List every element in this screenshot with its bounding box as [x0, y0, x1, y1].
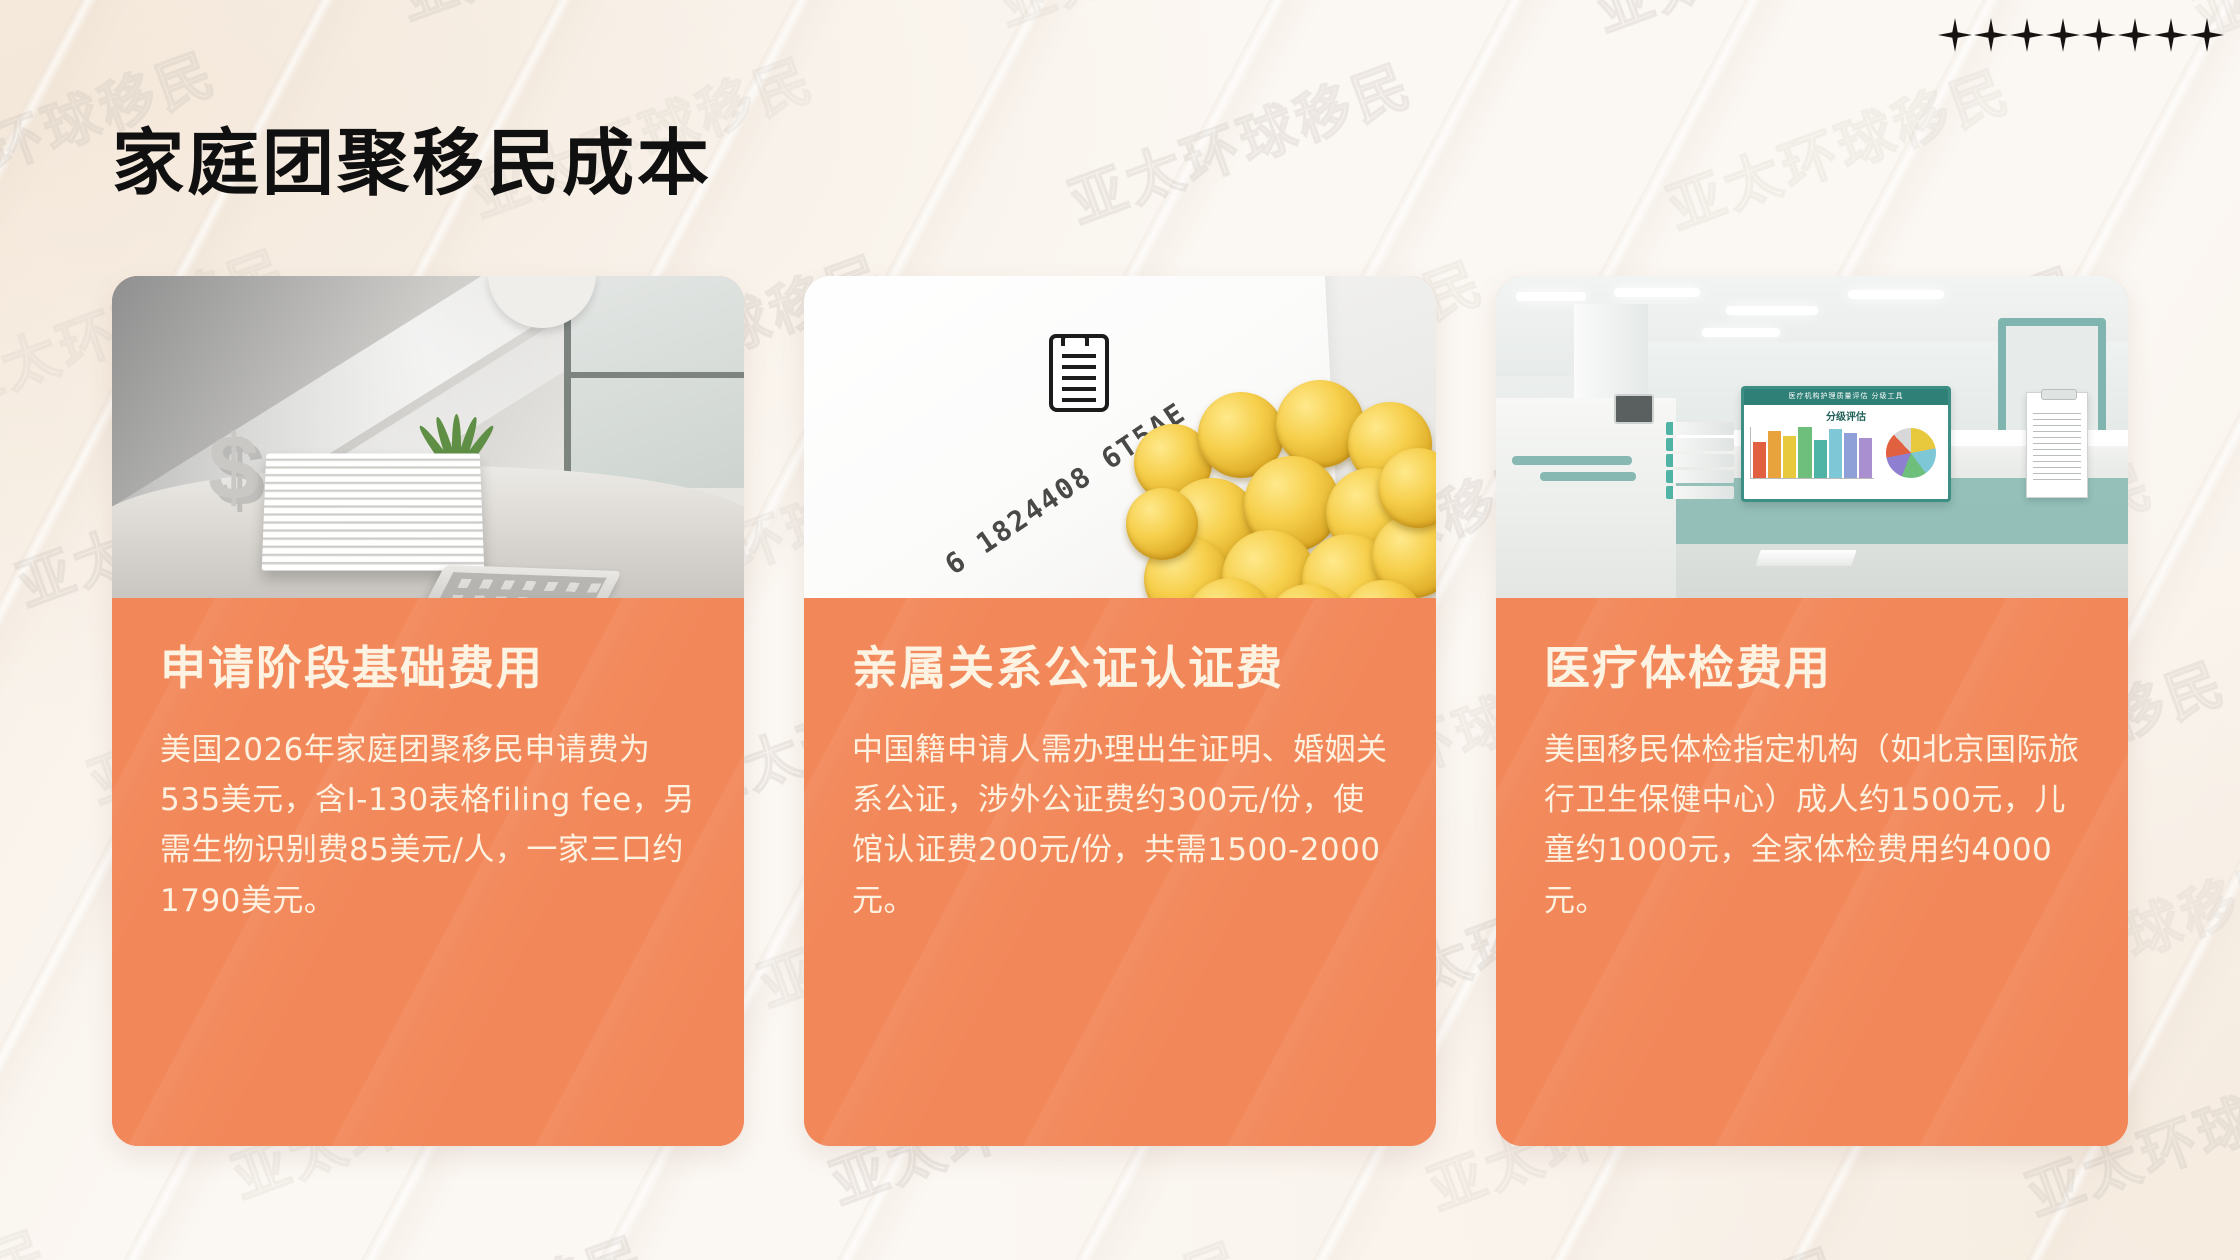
card-title: 亲属关系公证认证费: [852, 642, 1388, 695]
sparkle-icon: [2118, 18, 2152, 52]
card-title: 医疗体检费用: [1544, 642, 2080, 695]
ceiling-light-icon: [1702, 328, 1780, 337]
gold-coins-document-photo: 6 1824408 6T5AE: [804, 276, 1436, 598]
desk-documents-photo: $: [112, 276, 744, 598]
tablet-screen-icon: [1614, 394, 1654, 424]
ceiling-light-icon: [1614, 288, 1700, 297]
handrail-icon: [1512, 456, 1632, 465]
sparkle-icon: [2190, 18, 2224, 52]
ceiling-light-icon: [1516, 292, 1586, 301]
card-body: 申请阶段基础费用 美国2026年家庭团聚移民申请费为535美元，含I-130表格…: [112, 598, 744, 1146]
board-charts: [1744, 423, 1948, 483]
pie-chart: [1880, 427, 1942, 479]
card-text: 中国籍申请人需办理出生证明、婚姻关系公证，涉外公证费约300元/份，使馆认证费2…: [852, 725, 1388, 926]
sparkle-decoration-strip: [1938, 18, 2224, 52]
calculator-icon: [418, 565, 622, 598]
page-title: 家庭团聚移民成本: [112, 104, 712, 209]
bar-chart-bar: [1859, 438, 1872, 478]
card-body: 医疗体检费用 美国移民体检指定机构（如北京国际旅行卫生保健中心）成人约1500元…: [1496, 598, 2128, 1146]
paper-stack-icon: [262, 454, 485, 571]
ceiling-light-icon: [1848, 290, 1944, 299]
document-icon: [1049, 334, 1109, 412]
document-lines-icon: [1062, 354, 1096, 404]
bar-chart-bar: [1753, 442, 1766, 478]
bar-chart-bar: [1783, 436, 1796, 479]
card-text: 美国移民体检指定机构（如北京国际旅行卫生保健中心）成人约1500元，儿童约100…: [1544, 725, 2080, 926]
coin-icon: [1126, 488, 1198, 560]
sparkle-icon: [2010, 18, 2044, 52]
cost-card-application-fee[interactable]: $ 申请阶段基础费用 美国2026年家庭团聚移民申请费为535美元，含I-130…: [112, 276, 744, 1146]
bar-chart-bar: [1829, 429, 1842, 478]
bar-chart: [1750, 427, 1874, 479]
cost-card-medical-exam-fee[interactable]: 医疗机构护理质量评估 分级工具 分级评估 医疗体检费用 美国移民体检指定机构（如…: [1496, 276, 2128, 1146]
sparkle-icon: [2154, 18, 2188, 52]
clipboard-icon: [2026, 392, 2088, 498]
assessment-board: 医疗机构护理质量评估 分级工具 分级评估: [1741, 386, 1951, 502]
card-text: 美国2026年家庭团聚移民申请费为535美元，含I-130表格filing fe…: [160, 725, 696, 926]
cost-card-notarization-fee[interactable]: 6 1824408 6T5AE 亲属关系公证认证费 中国籍申请人需办理出生证明、…: [804, 276, 1436, 1146]
gold-coins-icon: [1126, 328, 1436, 598]
ceiling-light-icon: [1726, 306, 1818, 315]
dollar-sign-icon: $: [208, 422, 259, 514]
bar-chart-bar: [1768, 431, 1781, 478]
sparkle-icon: [1938, 18, 1972, 52]
sparkle-icon: [2046, 18, 2080, 52]
card-body: 亲属关系公证认证费 中国籍申请人需办理出生证明、婚姻关系公证，涉外公证费约300…: [804, 598, 1436, 1146]
desk-front-panel: [1496, 398, 1676, 598]
handrail-icon: [1540, 472, 1636, 481]
bar-chart-bar: [1844, 433, 1857, 478]
bar-chart-bar: [1814, 440, 1827, 478]
sparkle-icon: [1974, 18, 2008, 52]
equipment-modules-icon: [1666, 422, 1734, 496]
cost-cards-container: $ 申请阶段基础费用 美国2026年家庭团聚移民申请费为535美元，含I-130…: [112, 276, 2128, 1146]
window-icon: [564, 276, 744, 491]
bar-chart-bar: [1798, 427, 1811, 478]
board-header-text: 医疗机构护理质量评估 分级工具: [1744, 389, 1948, 405]
hospital-reception-photo: 医疗机构护理质量评估 分级工具 分级评估: [1496, 276, 2128, 598]
paper-on-counter: [1755, 550, 1856, 566]
board-title-text: 分级评估: [1744, 408, 1948, 423]
card-title: 申请阶段基础费用: [160, 642, 696, 695]
sparkle-icon: [2082, 18, 2116, 52]
